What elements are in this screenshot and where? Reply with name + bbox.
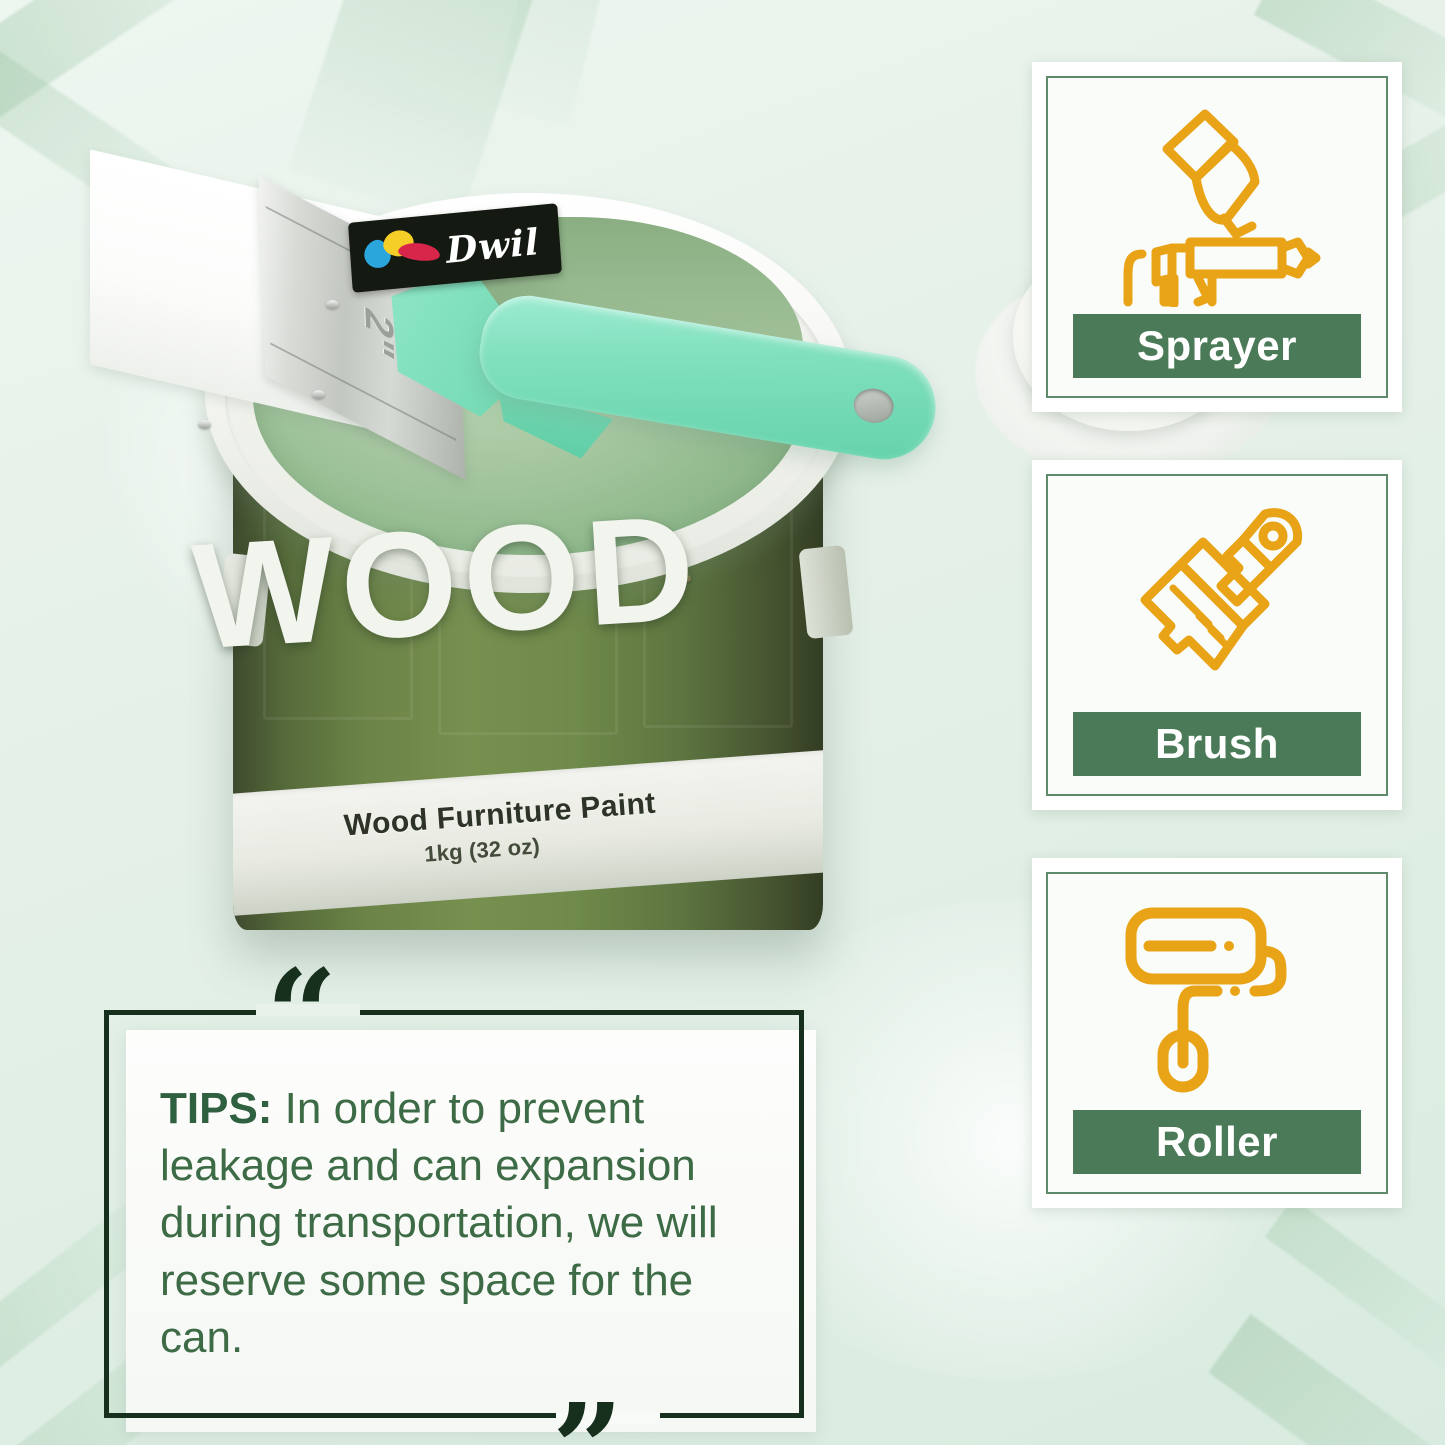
tips-callout: “ ” TIPS: In order to prevent leakage an…	[104, 1010, 804, 1418]
method-card-inner: Roller	[1046, 872, 1388, 1194]
method-card-brush[interactable]: Brush	[1032, 460, 1402, 810]
decorative-glass-band	[491, 0, 629, 126]
quote-close-icon: ”	[552, 1388, 623, 1445]
application-methods-list: Sprayer	[1032, 62, 1402, 1208]
brand-name: Dwil	[445, 221, 541, 272]
brush-hang-hole	[851, 386, 896, 426]
tips-lead: TIPS:	[160, 1084, 272, 1133]
method-card-inner: Sprayer	[1046, 76, 1388, 398]
brand-blob-red-icon	[397, 241, 441, 263]
method-card-sprayer[interactable]: Sprayer	[1032, 62, 1402, 412]
method-label-roller: Roller	[1073, 1110, 1361, 1174]
method-card-roller[interactable]: Roller	[1032, 858, 1402, 1208]
method-label-sprayer: Sprayer	[1073, 314, 1361, 378]
quote-open-icon: “	[266, 954, 337, 1078]
product-subtitle: Wood Furniture Paint	[343, 787, 657, 844]
tips-text: TIPS: In order to prevent leakage and ca…	[160, 1080, 758, 1366]
ferrule-rivet	[198, 420, 211, 429]
can-label-band: Wood Furniture Paint 1kg (32 oz)	[233, 750, 823, 916]
product-wordmark: WOOD	[189, 489, 757, 672]
ferrule-rivet	[326, 300, 339, 309]
spray-gun-icon	[1062, 94, 1372, 314]
method-card-inner: Brush	[1046, 474, 1388, 796]
brush-handle-grip	[473, 289, 944, 467]
paint-roller-icon	[1062, 890, 1372, 1110]
method-label-brush: Brush	[1073, 712, 1361, 776]
can-handle-lug-right	[798, 545, 853, 639]
product-weight: 1kg (32 oz)	[423, 833, 540, 867]
paint-brush-icon	[1062, 492, 1372, 712]
ferrule-rivet	[312, 390, 325, 399]
